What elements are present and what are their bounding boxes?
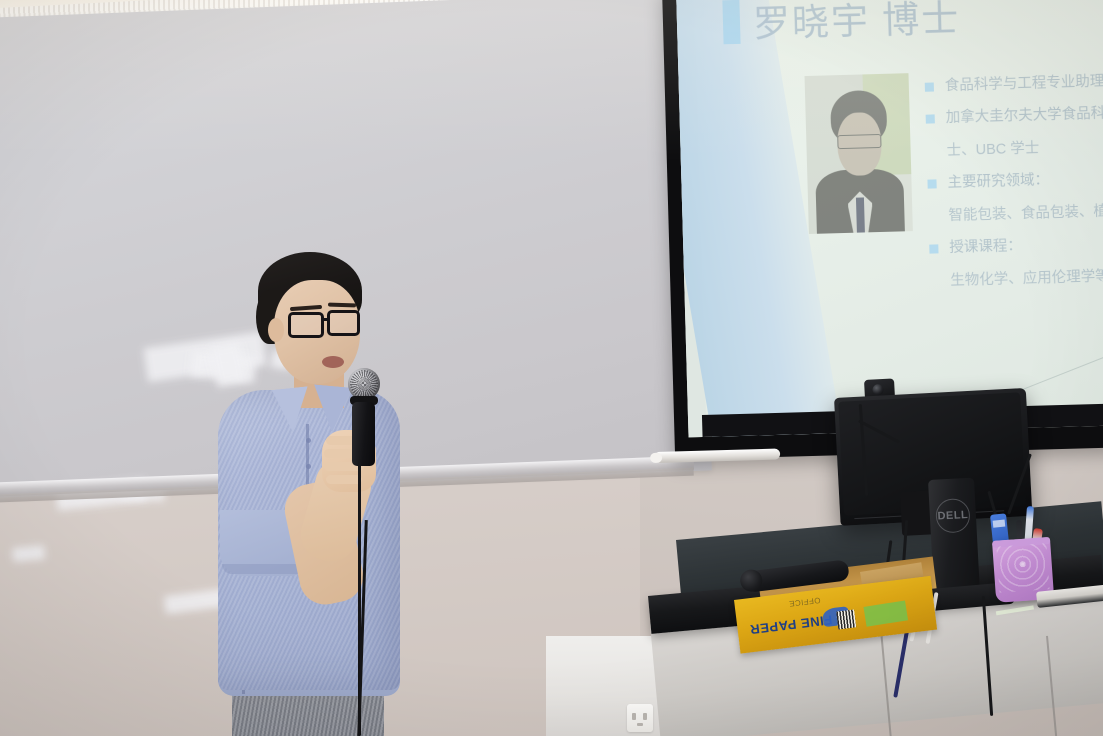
- bullet-text: 食品科学与工程专业助理教授: [945, 71, 1103, 98]
- glasses-right-lens: [327, 310, 360, 336]
- bullet-square-icon: [926, 115, 935, 124]
- bullet-subtext: 士、UBC 学士: [946, 135, 1103, 162]
- box-green-sticker: [863, 600, 908, 626]
- projector-screen-surface: 罗晓宇 博士 食品科学与工程专业助理教授 加拿大圭尔夫大学食品科学博 士、UBC…: [676, 0, 1103, 437]
- bullet-square-icon: [925, 82, 934, 91]
- dell-logo: DELL: [935, 498, 971, 534]
- bullet-square-icon: [927, 180, 936, 189]
- bullet-subtext: 智能包装、食品包装、植物基: [948, 200, 1103, 227]
- presenter-ear: [268, 318, 284, 342]
- slide-portrait-photo: [805, 73, 913, 234]
- slide-title-accent-bar: [722, 0, 740, 44]
- glasses-bridge: [322, 318, 330, 321]
- list-item: 授课课程：: [929, 232, 1103, 260]
- bullet-square-icon: [929, 245, 938, 254]
- box-label: FINE PAPER: [749, 612, 833, 637]
- lecture-hall-photo: 罗晓宇 博士 食品科学与工程专业助理教授 加拿大圭尔夫大学食品科学博 士、UBC…: [0, 0, 1103, 736]
- bullet-text: 授课课程：: [949, 236, 1022, 259]
- microphone-body: [352, 402, 375, 466]
- presenter-mouth: [322, 356, 344, 368]
- screen-weight-cap: [650, 453, 662, 463]
- box-sublabel: OFFICE: [788, 596, 821, 609]
- power-outlet: [627, 704, 653, 732]
- slide-title: 罗晓宇 博士: [752, 0, 961, 47]
- glasses-left-lens: [288, 312, 324, 338]
- presenter: [196, 252, 426, 736]
- slide-bullet-list: 食品科学与工程专业助理教授 加拿大圭尔夫大学食品科学博 士、UBC 学士 主要研…: [925, 70, 1103, 304]
- bullet-text: 加拿大圭尔夫大学食品科学博: [945, 103, 1103, 130]
- list-item: 加拿大圭尔夫大学食品科学博: [925, 103, 1103, 131]
- bullet-subtext: 生物化学、应用伦理学等: [950, 265, 1103, 292]
- list-item: 主要研究领域：: [927, 168, 1103, 196]
- box-barcode: [836, 609, 856, 629]
- list-item: 食品科学与工程专业助理教授: [925, 70, 1103, 98]
- bullet-text: 主要研究领域：: [947, 171, 1049, 195]
